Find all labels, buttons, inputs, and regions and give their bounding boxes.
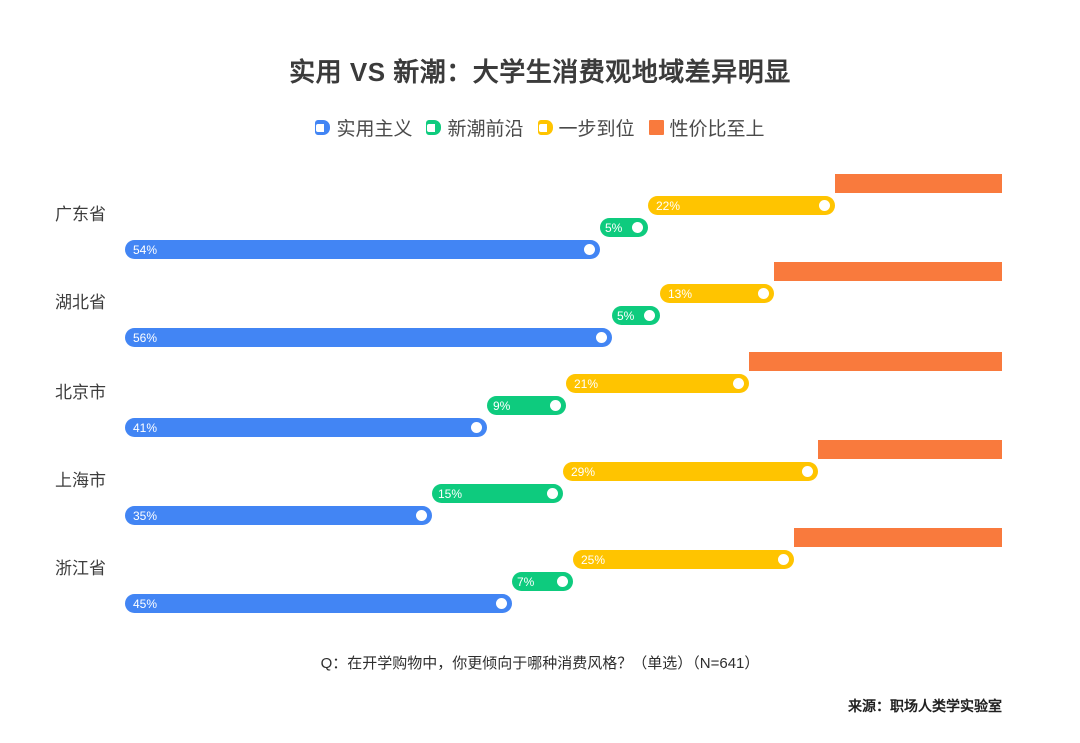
bar-segment-value[interactable] bbox=[835, 174, 1002, 193]
category-label: 广东省 bbox=[55, 200, 135, 225]
legend-item-value[interactable]: 性价比至上 bbox=[649, 114, 765, 141]
bar-segment-one-step[interactable]: 13% bbox=[660, 284, 774, 303]
legend-label: 一步到位 bbox=[559, 114, 635, 141]
bar-segment-one-step[interactable]: 22% bbox=[648, 196, 835, 215]
bar-endpoint-dot bbox=[802, 466, 813, 477]
bar-value-label: 13% bbox=[668, 288, 692, 300]
category-label: 浙江省 bbox=[55, 554, 135, 579]
category-label: 湖北省 bbox=[55, 288, 135, 313]
bar-endpoint-dot bbox=[644, 310, 655, 321]
chart-legend: 实用主义 新潮前沿 一步到位 性价比至上 bbox=[0, 114, 1080, 141]
bar-value-label: 5% bbox=[617, 310, 634, 322]
bar-group: 广东省 22% 5% 54% bbox=[0, 160, 1080, 248]
bar-segment-one-step[interactable]: 21% bbox=[566, 374, 749, 393]
bar-segment-value[interactable] bbox=[774, 262, 1002, 281]
bar-endpoint-dot bbox=[758, 288, 769, 299]
square-marker-icon bbox=[649, 120, 664, 135]
bar-value-label: 9% bbox=[493, 400, 510, 412]
bar-cap-marker-icon bbox=[538, 120, 553, 135]
bar-segment-practical[interactable]: 45% bbox=[125, 594, 512, 613]
chart-source: 来源：职场人类学实验室 bbox=[848, 696, 1002, 716]
bar-endpoint-dot bbox=[496, 598, 507, 609]
chart-question: Q：在开学购物中，你更倾向于哪种消费风格？（单选）（N=641） bbox=[0, 652, 1080, 673]
bar-segment-value[interactable] bbox=[818, 440, 1002, 459]
bar-value-label: 7% bbox=[517, 576, 534, 588]
bar-group: 上海市 29% 15% 35% bbox=[0, 428, 1080, 516]
legend-label: 实用主义 bbox=[336, 114, 412, 141]
bar-cap-marker-icon bbox=[315, 120, 330, 135]
bar-endpoint-dot bbox=[632, 222, 643, 233]
legend-item-practical[interactable]: 实用主义 bbox=[315, 114, 412, 141]
legend-item-one-step[interactable]: 一步到位 bbox=[538, 114, 635, 141]
bar-segment-one-step[interactable]: 25% bbox=[573, 550, 794, 569]
bar-segment-value[interactable] bbox=[794, 528, 1002, 547]
bar-value-label: 25% bbox=[581, 554, 605, 566]
legend-label: 新潮前沿 bbox=[447, 114, 523, 141]
bar-endpoint-dot bbox=[733, 378, 744, 389]
bar-segment-trendy[interactable]: 15% bbox=[432, 484, 563, 503]
bar-value-label: 21% bbox=[574, 378, 598, 390]
category-label: 北京市 bbox=[55, 378, 135, 403]
bar-group: 浙江省 25% 7% 45% bbox=[0, 516, 1080, 604]
bar-segment-value[interactable] bbox=[749, 352, 1002, 371]
bar-endpoint-dot bbox=[547, 488, 558, 499]
bar-value-label: 29% bbox=[571, 466, 595, 478]
bar-endpoint-dot bbox=[557, 576, 568, 587]
bar-group: 北京市 21% 9% 41% bbox=[0, 340, 1080, 428]
chart-page: 实用 VS 新潮：大学生消费观地域差异明显 实用主义 新潮前沿 一步到位 性价比… bbox=[0, 0, 1080, 743]
bar-value-label: 45% bbox=[133, 598, 157, 610]
bar-endpoint-dot bbox=[778, 554, 789, 565]
bar-value-label: 22% bbox=[656, 200, 680, 212]
bar-cap-marker-icon bbox=[426, 120, 441, 135]
category-label: 上海市 bbox=[55, 466, 135, 491]
page-title: 实用 VS 新潮：大学生消费观地域差异明显 bbox=[0, 52, 1080, 89]
plot-area: 广东省 22% 5% 54% 湖北省 13% 5% bbox=[0, 160, 1080, 630]
bar-endpoint-dot bbox=[819, 200, 830, 211]
bar-segment-one-step[interactable]: 29% bbox=[563, 462, 818, 481]
bar-segment-trendy[interactable]: 7% bbox=[512, 572, 573, 591]
legend-label: 性价比至上 bbox=[670, 114, 765, 141]
bar-segment-trendy[interactable]: 5% bbox=[612, 306, 660, 325]
bar-value-label: 15% bbox=[438, 488, 462, 500]
bar-segment-trendy[interactable]: 9% bbox=[487, 396, 566, 415]
bar-value-label: 5% bbox=[605, 222, 622, 234]
bar-segment-trendy[interactable]: 5% bbox=[600, 218, 648, 237]
bar-group: 湖北省 13% 5% 56% bbox=[0, 248, 1080, 336]
legend-item-trendy[interactable]: 新潮前沿 bbox=[426, 114, 523, 141]
bar-endpoint-dot bbox=[550, 400, 561, 411]
